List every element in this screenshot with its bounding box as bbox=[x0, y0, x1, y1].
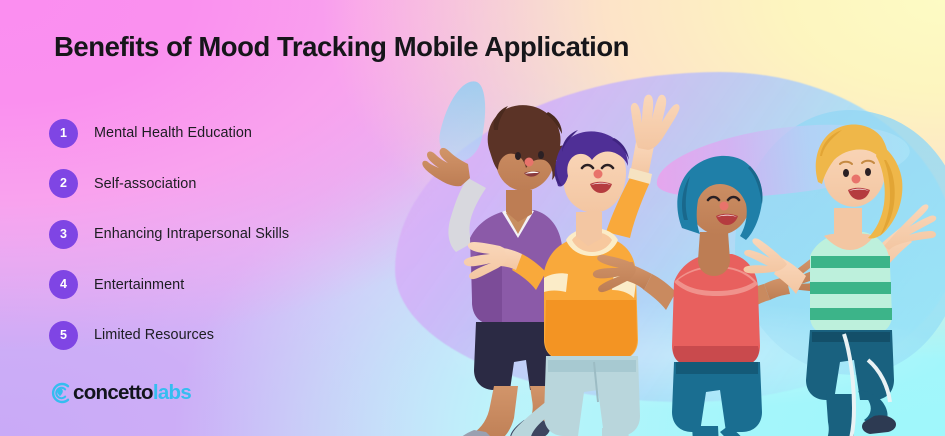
concettolabs-logo[interactable]: concettolabs bbox=[48, 381, 191, 405]
benefit-item-4[interactable]: 4 Entertainment bbox=[49, 269, 409, 301]
logo-text-secondary: labs bbox=[153, 381, 191, 404]
four-jumping-people-illustration bbox=[398, 60, 945, 436]
benefit-number-badge: 1 bbox=[49, 119, 78, 148]
benefits-list: 1 Mental Health Education 2 Self-associa… bbox=[49, 117, 409, 370]
benefit-number-badge: 5 bbox=[49, 321, 78, 350]
benefit-label: Enhancing Intrapersonal Skills bbox=[94, 226, 289, 242]
logo-text-primary: concetto bbox=[73, 381, 153, 404]
benefit-item-2[interactable]: 2 Self-association bbox=[49, 168, 409, 200]
benefit-label: Mental Health Education bbox=[94, 125, 252, 141]
benefit-number-badge: 3 bbox=[49, 220, 78, 249]
benefit-item-1[interactable]: 1 Mental Health Education bbox=[49, 117, 409, 149]
benefit-item-3[interactable]: 3 Enhancing Intrapersonal Skills bbox=[49, 218, 409, 250]
page-title: Benefits of Mood Tracking Mobile Applica… bbox=[54, 31, 629, 63]
benefit-label: Limited Resources bbox=[94, 327, 214, 343]
person-striped-tank bbox=[744, 124, 937, 436]
benefit-label: Self-association bbox=[94, 176, 196, 192]
benefit-number-badge: 2 bbox=[49, 169, 78, 198]
infographic-banner: Benefits of Mood Tracking Mobile Applica… bbox=[0, 0, 945, 436]
benefit-label: Entertainment bbox=[94, 277, 184, 293]
concetto-circle-icon bbox=[48, 381, 72, 405]
benefit-number-badge: 4 bbox=[49, 270, 78, 299]
benefit-item-5[interactable]: 5 Limited Resources bbox=[49, 319, 409, 351]
